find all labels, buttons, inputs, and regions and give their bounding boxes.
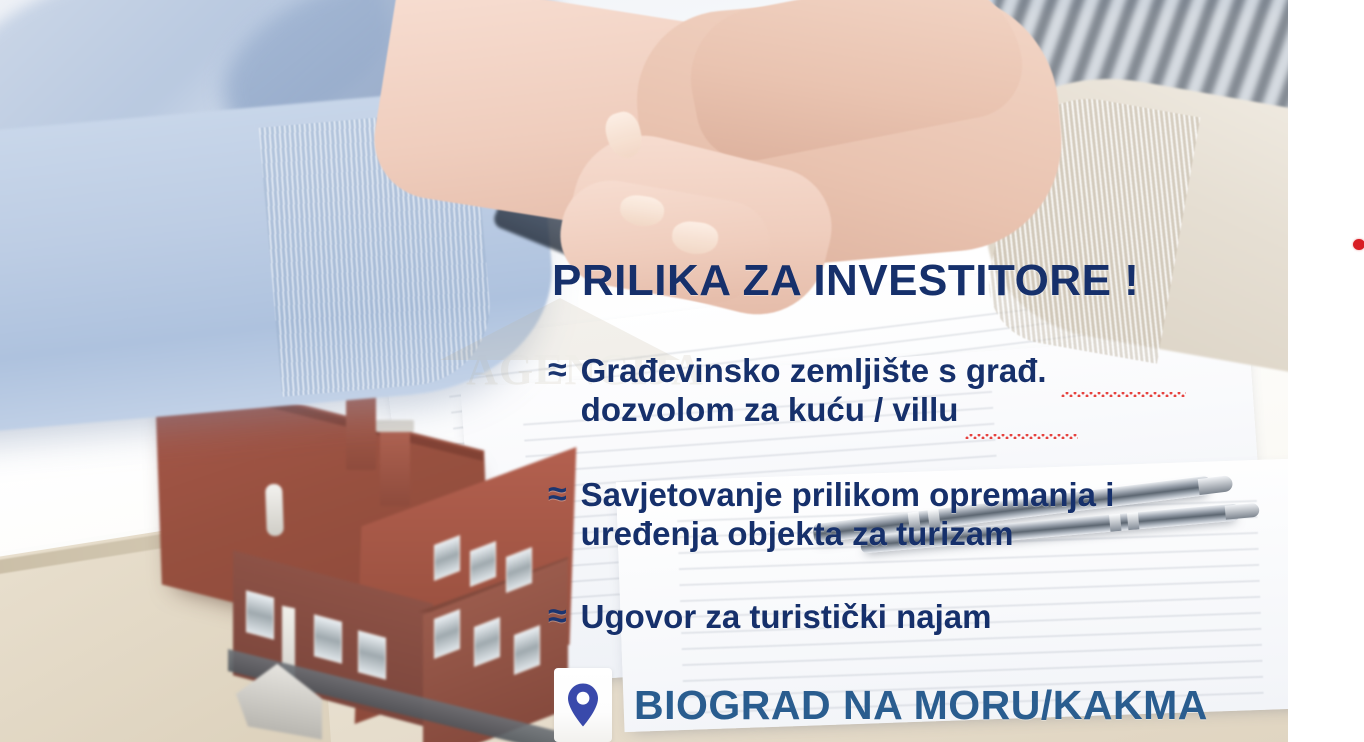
bullet-item-3: ≈ Ugovor za turistički najam — [548, 598, 991, 637]
page-title: PRILIKA ZA INVESTITORE ! — [552, 256, 1139, 306]
location-row: BIOGRAD NA MORU/KAKMA — [554, 668, 1208, 742]
investor-opportunity-poster: AGENCIJA PRILIKA ZA INVESTITORE ! ≈ Građ… — [0, 0, 1364, 742]
bullet-item-3-label: Ugovor za turistički najam — [581, 598, 992, 637]
bullet-item-1-label: Građevinsko zemljište s građ. dozvolom z… — [581, 352, 1047, 430]
approx-bullet-icon: ≈ — [548, 598, 567, 635]
bullet-item-1: ≈ Građevinsko zemljište s građ. dozvolom… — [548, 352, 1047, 430]
spellcheck-underline-grad — [1061, 392, 1186, 397]
text-overlay: PRILIKA ZA INVESTITORE ! ≈ Građevinsko z… — [0, 0, 1364, 742]
spellcheck-underline-villu — [965, 434, 1078, 439]
approx-bullet-icon: ≈ — [548, 352, 567, 389]
map-pin-icon — [554, 668, 612, 742]
location-label: BIOGRAD NA MORU/KAKMA — [634, 682, 1208, 729]
bullet-item-2: ≈ Savjetovanje prilikom opremanja i uređ… — [548, 476, 1114, 554]
bullet-item-2-label: Savjetovanje prilikom opremanja i uređen… — [581, 476, 1115, 554]
approx-bullet-icon: ≈ — [548, 476, 567, 513]
